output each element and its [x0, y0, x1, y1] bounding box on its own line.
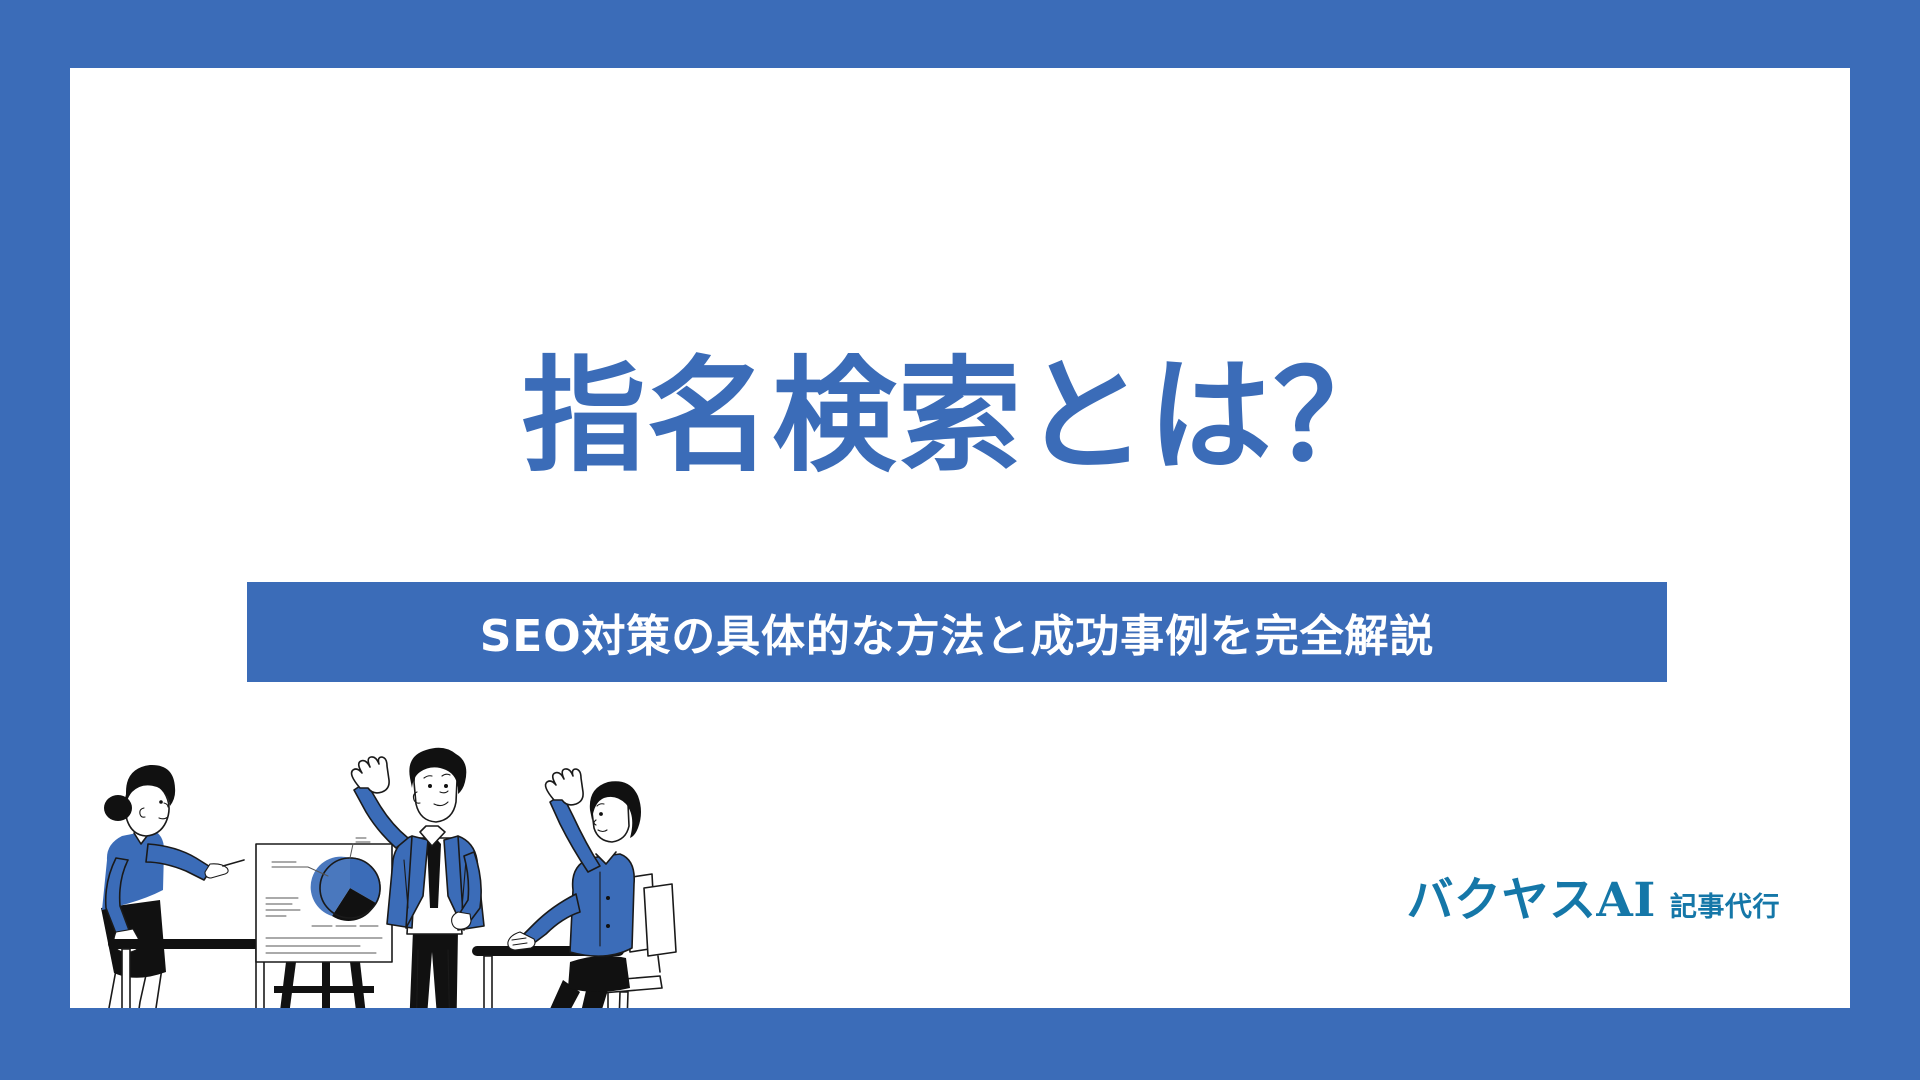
brand-logo-main: バクヤスAI — [1407, 861, 1656, 930]
illustration-business-team: .ln { fill:none; stroke:#1a1a1a; stroke-… — [70, 740, 680, 1008]
brand-logo-sub: 記事代行 — [1670, 885, 1780, 924]
slide-root: 指名検索とは？ SEO対策の具体的な方法と成功事例を完全解説 バクヤスAI 記事… — [0, 0, 1920, 1080]
brand-logo: バクヤスAI 記事代行 — [1407, 861, 1780, 930]
page-title: 指名検索とは？ — [70, 348, 1850, 487]
slide-card: 指名検索とは？ SEO対策の具体的な方法と成功事例を完全解説 バクヤスAI 記事… — [70, 68, 1850, 1008]
figure-man-seated — [508, 769, 676, 1008]
figure-woman-pointing — [85, 765, 244, 1008]
chart-easel — [256, 838, 392, 1008]
subtitle-band: SEO対策の具体的な方法と成功事例を完全解説 — [247, 582, 1667, 682]
subtitle-text: SEO対策の具体的な方法と成功事例を完全解説 — [480, 600, 1435, 664]
